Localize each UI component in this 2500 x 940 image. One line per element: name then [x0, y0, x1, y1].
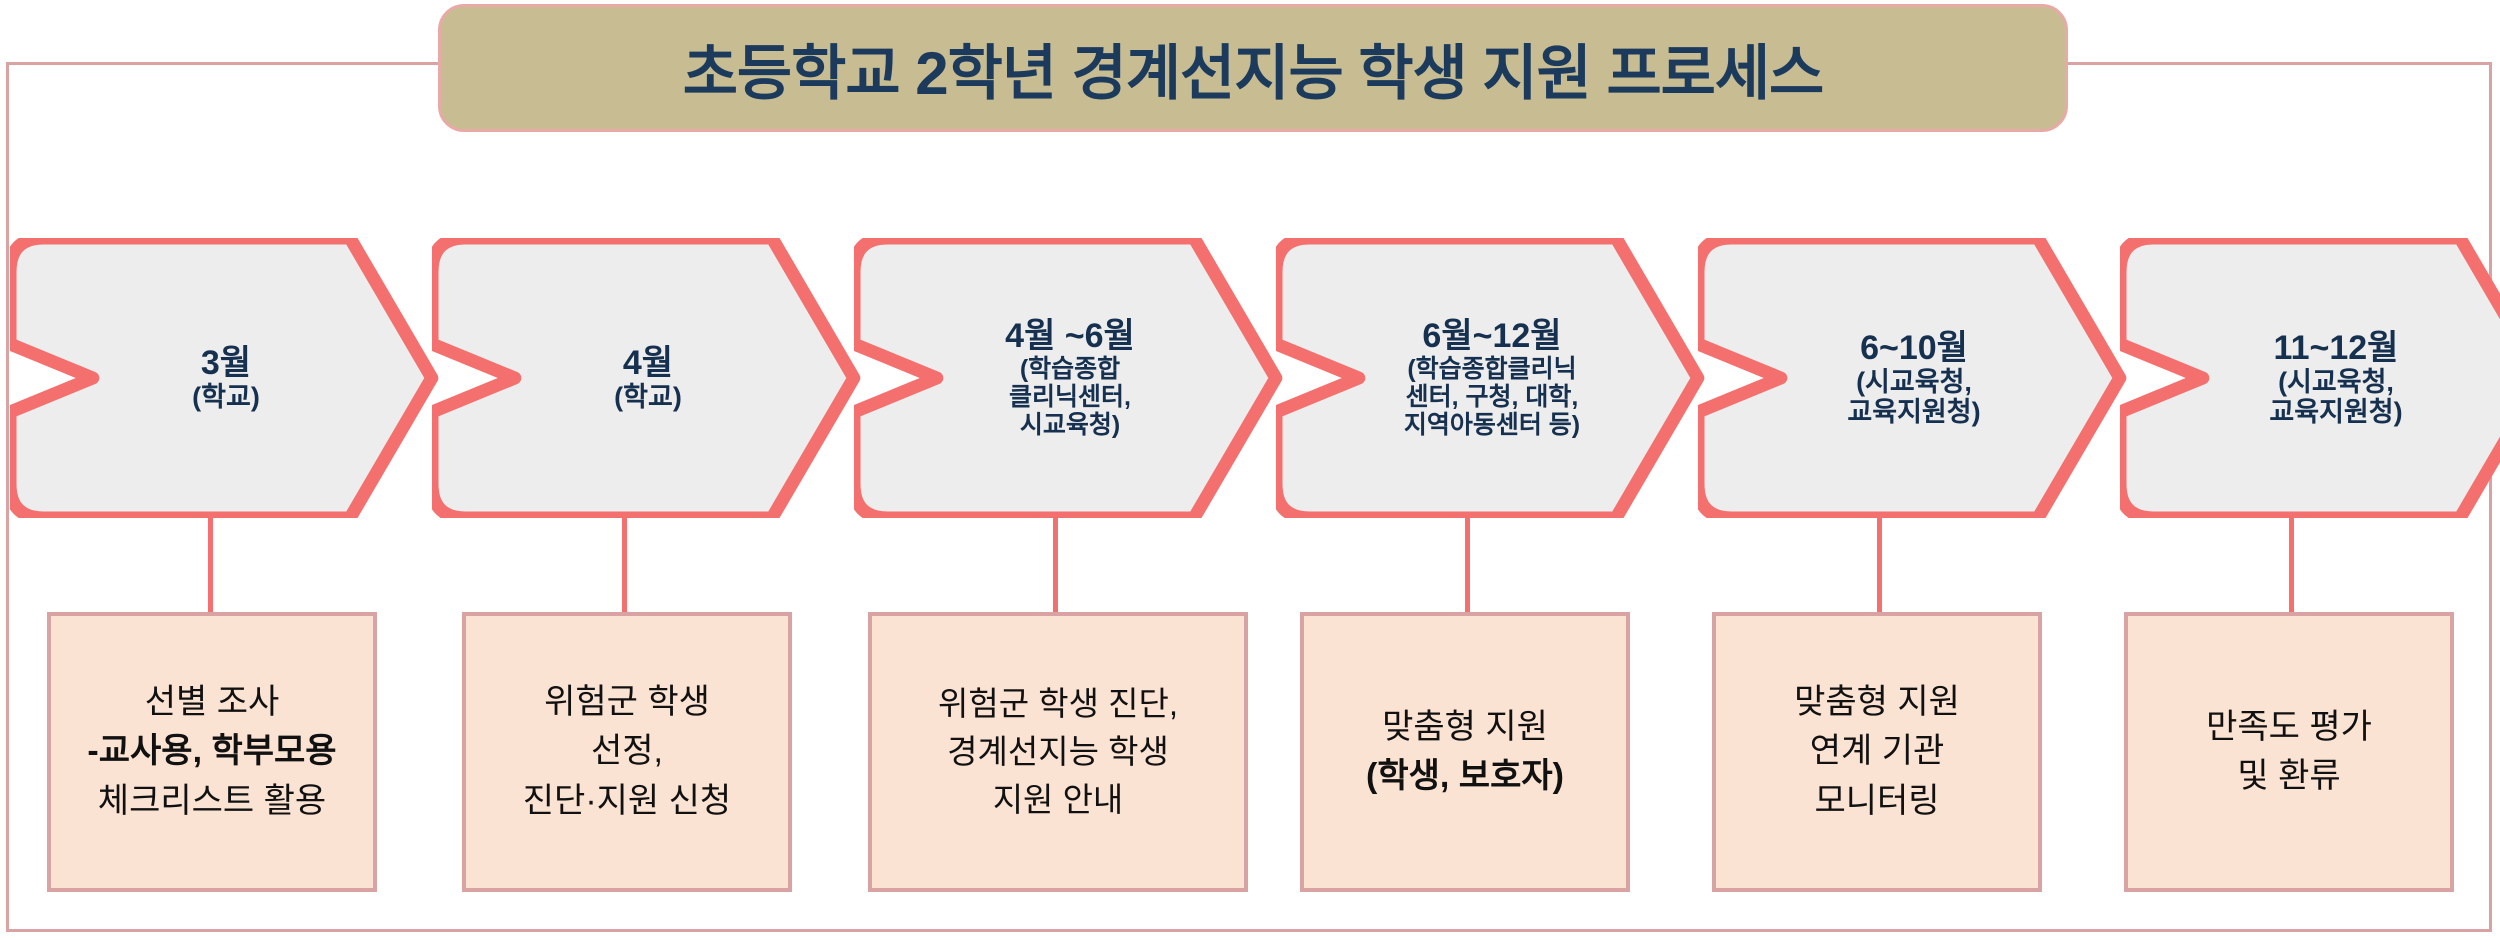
detail-box-5[interactable]: 맞춤형 지원연계 기관모니터링: [1712, 612, 2042, 892]
detail-box-4[interactable]: 맞춤형 지원(학생, 보호자): [1300, 612, 1630, 892]
connector-stem-6: [2289, 516, 2294, 616]
chevron-shape: [10, 238, 442, 518]
connector-stem-5: [1877, 516, 1882, 616]
chevron-shape: [854, 238, 1286, 518]
process-chevron-row: 3월(학교)4월(학교)4월 ~6월(학습종합클리닉센터,시교육청)6월~12월…: [0, 238, 2500, 518]
detail-line: 맞춤형 지원: [1794, 678, 1960, 727]
detail-line: 체크리스트 활용: [98, 777, 326, 826]
detail-line: 지원 안내: [993, 776, 1124, 824]
chevron-shape: [1276, 238, 1708, 518]
process-step-3[interactable]: 4월 ~6월(학습종합클리닉센터,시교육청): [854, 238, 1286, 518]
process-step-2[interactable]: 4월(학교): [432, 238, 864, 518]
connector-stem-3: [1053, 516, 1058, 616]
connector-stem-1: [208, 516, 213, 616]
detail-line: 진단·지원 신청: [523, 777, 731, 826]
process-step-6[interactable]: 11~12월(시교육청,교육지원청): [2120, 238, 2500, 518]
detail-line: 위험군 학생: [544, 678, 710, 727]
chevron-shape: [432, 238, 864, 518]
process-step-5[interactable]: 6~10월(시교육청,교육지원청): [1698, 238, 2130, 518]
detail-line: 만족도 평가: [2206, 703, 2372, 752]
process-step-4[interactable]: 6월~12월(학습종합클리닉센터, 구청, 대학,지역아동센터 등): [1276, 238, 1708, 518]
detail-line: 위험군 학생 진단,: [938, 680, 1178, 728]
detail-box-3[interactable]: 위험군 학생 진단,경계선지능 학생지원 안내: [868, 612, 1248, 892]
detail-box-6[interactable]: 만족도 평가및 환류: [2124, 612, 2454, 892]
detail-line: -교사용, 학부모용: [87, 727, 336, 776]
chevron-shape: [1698, 238, 2130, 518]
detail-box-1[interactable]: 선별 조사-교사용, 학부모용체크리스트 활용: [47, 612, 377, 892]
process-step-1[interactable]: 3월(학교): [10, 238, 442, 518]
connector-stem-4: [1465, 516, 1470, 616]
detail-line: 선별 조사: [145, 678, 280, 727]
detail-box-2[interactable]: 위험군 학생선정,진단·지원 신청: [462, 612, 792, 892]
detail-line: 및 환류: [2237, 752, 2340, 801]
chevron-shape: [2120, 238, 2500, 518]
connector-stem-2: [622, 516, 627, 616]
detail-line: (학생, 보호자): [1366, 752, 1564, 801]
diagram-title-banner: 초등학교 2학년 경계선지능 학생 지원 프로세스: [438, 4, 2068, 132]
detail-line: 모니터링: [1814, 777, 1939, 826]
page-title: 초등학교 2학년 경계선지능 학생 지원 프로세스: [683, 25, 1824, 112]
detail-line: 선정,: [591, 727, 663, 776]
detail-line: 경계선지능 학생: [947, 728, 1169, 776]
detail-line: 맞춤형 지원: [1382, 703, 1548, 752]
detail-line: 연계 기관: [1810, 727, 1945, 776]
